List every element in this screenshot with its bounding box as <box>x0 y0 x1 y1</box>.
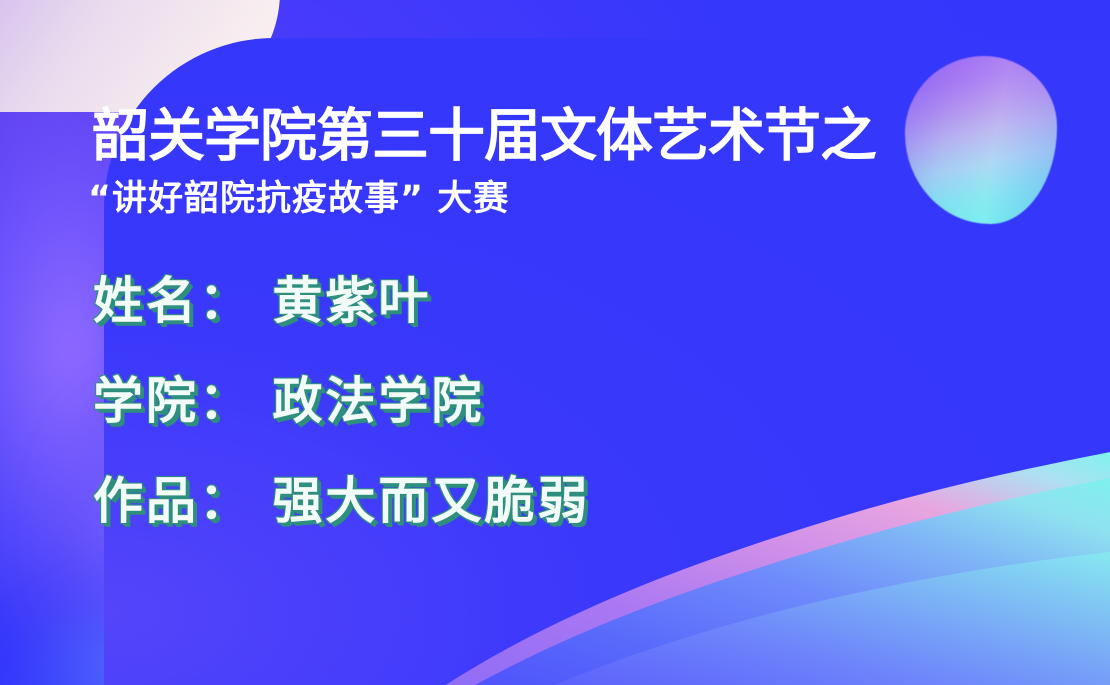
field-work: 作品： 强大而又脆弱 <box>93 476 590 526</box>
field-name: 姓名： 黄紫叶 <box>93 276 431 326</box>
page-subtitle: “讲好韶院抗疫故事” 大赛 <box>88 182 509 217</box>
field-college: 学院： 政法学院 <box>93 376 484 426</box>
poster-content: 韶关学院第三十届文体艺术节之 “讲好韶院抗疫故事” 大赛 姓名： 黄紫叶 学院：… <box>0 0 1110 685</box>
page-title: 韶关学院第三十届文体艺术节之 <box>92 108 876 165</box>
poster-canvas: 韶关学院第三十届文体艺术节之 “讲好韶院抗疫故事” 大赛 姓名： 黄紫叶 学院：… <box>0 0 1110 685</box>
